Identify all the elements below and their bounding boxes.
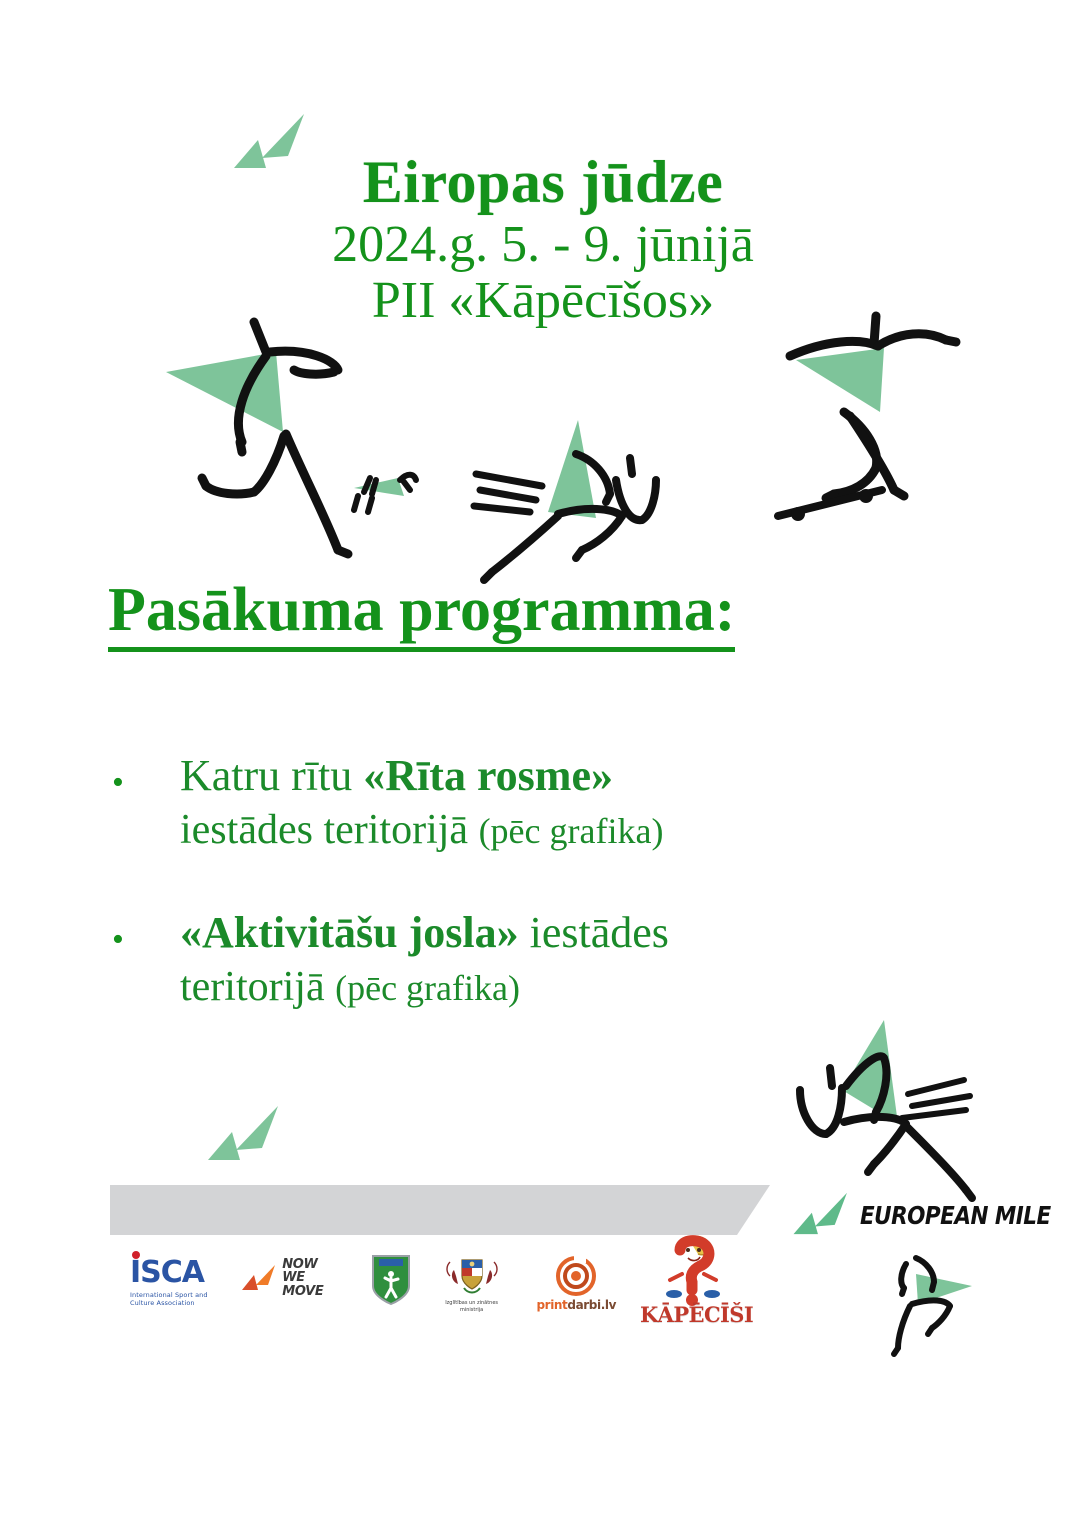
chevron-mark-icon <box>792 1186 850 1244</box>
bullet-marker: • <box>112 750 180 800</box>
bullet-marker: • <box>112 907 180 957</box>
kapecisi-mascot-icon <box>652 1234 738 1312</box>
european-mile-logo: EUROPEAN MILE <box>792 1186 1082 1244</box>
poster-canvas: Eiropas jūdze 2024.g. 5. - 9. jūnijā PII… <box>0 0 1086 1536</box>
sponsor-logo-strip: ISCA International Sport and Culture Ass… <box>130 1248 750 1358</box>
bullet-2-emphasis: «Aktivitāšu josla» <box>180 908 519 957</box>
program-list: • Katru rītu «Rīta rosme» iestādes terit… <box>112 750 942 1065</box>
bullet-1-text-before: Katru rītu <box>180 751 363 800</box>
bullet-1-note: (pēc grafika) <box>479 811 664 851</box>
now-we-move-arrow-icon <box>241 1263 277 1293</box>
now-we-move-wordmark: NOW WE MOVE <box>282 1258 348 1298</box>
chevron-mark-icon <box>204 1104 284 1166</box>
list-item: • Katru rītu «Rīta rosme» iestādes terit… <box>112 750 942 855</box>
program-heading: Pasākuma programma: <box>108 578 735 652</box>
ministry-logo: Izglītības un zinātnes ministrija <box>435 1252 509 1313</box>
isca-wordmark: ISCA <box>130 1258 223 1288</box>
runner-with-dog-figure <box>158 300 438 570</box>
decorative-gray-band <box>110 1185 770 1235</box>
ministry-subtitle: Izglītības un zinātnes ministrija <box>435 1300 509 1313</box>
bullet-1-emphasis: «Rīta rosme» <box>363 751 613 800</box>
skateboarder-figure <box>760 300 990 520</box>
bullet-2-text-after: iestādes <box>519 908 669 957</box>
printdarbi-wordmark: printdarbi.lv <box>535 1298 619 1312</box>
list-item: • «Aktivitāšu josla» iestādes teritorijā… <box>112 907 942 1012</box>
isca-dot-icon <box>132 1251 140 1259</box>
printdarbi-spiral-icon <box>556 1256 596 1296</box>
small-runner-figure <box>876 1252 996 1367</box>
isca-subtitle: International Sport and Culture Associat… <box>130 1291 223 1307</box>
kapecisi-logo: KĀPĒCĪŠI <box>640 1234 750 1327</box>
bullet-1-location: iestādes teritorijā <box>180 807 479 853</box>
kapecisi-wordmark: KĀPĒCĪŠI <box>640 1302 750 1327</box>
european-mile-wordmark: EUROPEAN MILE <box>860 1201 1051 1230</box>
page-title: Eiropas jūdze <box>0 152 1086 213</box>
event-date: 2024.g. 5. - 9. jūnijā <box>0 217 1086 273</box>
isca-logo: ISCA International Sport and Culture Ass… <box>130 1258 223 1307</box>
printdarbi-logo: printdarbi.lv <box>535 1256 619 1312</box>
bullet-2-location: teritorijā <box>180 964 335 1010</box>
bullet-2-note: (pēc grafika) <box>335 968 520 1008</box>
now-we-move-logo: NOW WE MOVE <box>241 1258 348 1298</box>
municipality-shield-logo <box>370 1254 413 1306</box>
chevron-mark-icon <box>232 112 308 174</box>
